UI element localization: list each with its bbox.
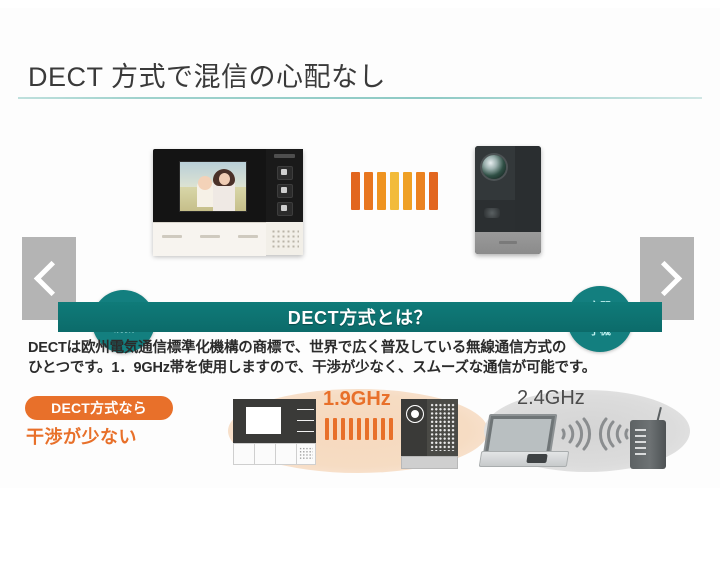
monitor-side-button-column [266, 149, 303, 222]
page-title: DECT 方式で混信の心配なし [28, 55, 386, 94]
monitor-key-3 [229, 223, 266, 256]
camera-base-label [499, 241, 517, 244]
chevron-right-icon [647, 261, 682, 296]
hero-illustration: モニター 親機 玄関 カメラ 子機 [0, 118, 720, 308]
signal-bar-3 [377, 172, 386, 210]
signal-bar-1 [351, 172, 360, 210]
monitor-key-2 [191, 223, 230, 256]
description-line-2: ひとつです。1．9GHz帯を使用しますので、干渉が少なく、スムーズな通信が可能で… [28, 358, 700, 378]
diagram-monitor-button-column [295, 399, 316, 443]
dect-wave-bar-3 [341, 418, 345, 440]
screen-baby-head [198, 176, 212, 190]
signal-bar-4 [390, 172, 399, 210]
monitor-side-button-2 [277, 184, 293, 198]
laptop-base [479, 451, 570, 467]
router-body [630, 420, 666, 469]
slide-container: DECT 方式で混信の心配なし [0, 0, 720, 580]
camera-ir-sensor [484, 208, 500, 218]
diagram-door-camera-icon [401, 399, 458, 469]
dect-advantage-pill-label: DECT方式なら [51, 398, 147, 418]
dect-wave-bar-9 [389, 418, 393, 440]
dect-advantage-pill: DECT方式なら [25, 396, 173, 420]
section-banner-title: DECT方式とは？ [288, 304, 432, 330]
signal-bar-6 [416, 172, 425, 210]
dect-advantage-subtitle: 干渉が少ない [26, 423, 137, 449]
title-block: DECT 方式で混信の心配なし [0, 55, 720, 110]
screen-woman-face [219, 173, 230, 185]
diagram-monitor-speaker-dots [299, 447, 313, 460]
title-divider [18, 97, 702, 99]
dect-wave-bars-icon [325, 417, 399, 441]
monitor-keypad-row [153, 222, 266, 256]
camera-base-plate [475, 232, 541, 254]
dect-wave-bar-7 [373, 418, 377, 440]
camera-panel-right [515, 146, 541, 232]
dect-wave-bar-1 [325, 418, 329, 440]
diagram-monitor-screen [246, 407, 281, 434]
monitor-parent-unit-photo [153, 149, 303, 255]
dect-wave-bar-2 [333, 418, 337, 440]
door-camera-unit-photo [475, 146, 541, 254]
signal-bar-2 [364, 172, 373, 210]
monitor-bezel [153, 149, 266, 222]
section-banner: DECT方式とは？ [58, 302, 662, 332]
dect-frequency-label: 1.9GHz [323, 388, 391, 411]
description-paragraph: DECTは欧州電気通信標準化機構の商標で、世界で広く普及している無線通信方式の … [28, 338, 700, 378]
grille-dots [271, 229, 299, 249]
dect-wave-bar-8 [381, 418, 385, 440]
diagram-monitor-icon [233, 399, 316, 465]
laptop-icon [480, 414, 566, 467]
chevron-left-icon [34, 261, 69, 296]
monitor-side-button-1 [277, 166, 293, 180]
laptop-trackpad [526, 454, 547, 463]
monitor-speaker-grille [266, 222, 303, 255]
wifi-router-icon [630, 407, 672, 469]
monitor-screen [179, 161, 247, 212]
monitor-brand-label [274, 154, 295, 158]
bottom-edge [0, 488, 720, 580]
description-line-1: DECTは欧州電気通信標準化機構の商標で、世界で広く普及している無線通信方式の [28, 338, 700, 358]
diagram-camera-base [401, 456, 458, 469]
dect-wave-bar-6 [365, 418, 369, 440]
monitor-key-1 [153, 223, 192, 256]
camera-lens-icon [482, 155, 506, 179]
diagram-monitor-key-divider-2 [275, 443, 276, 465]
diagram-camera-right-panel [427, 399, 458, 456]
dect-wave-bar-5 [357, 418, 361, 440]
comparison-diagram: DECT方式なら 干渉が少ない 1.9GHz 2.4GH [0, 385, 720, 485]
diagram-camera-grille-dots [430, 403, 455, 451]
monitor-side-button-3 [277, 202, 293, 216]
top-edge [0, 0, 720, 8]
laptop-lid [483, 414, 558, 456]
diagram-monitor-key-divider-3 [296, 443, 297, 465]
dect-wave-bar-4 [349, 418, 353, 440]
wireless-signal-bars [351, 172, 443, 210]
wifi-signal-arcs-icon [555, 415, 635, 453]
diagram-camera-lens-icon [406, 405, 424, 423]
signal-bar-7 [429, 172, 438, 210]
diagram-monitor-key-divider-1 [254, 443, 255, 465]
wifi-frequency-label: 2.4GHz [517, 387, 585, 410]
signal-bar-5 [403, 172, 412, 210]
